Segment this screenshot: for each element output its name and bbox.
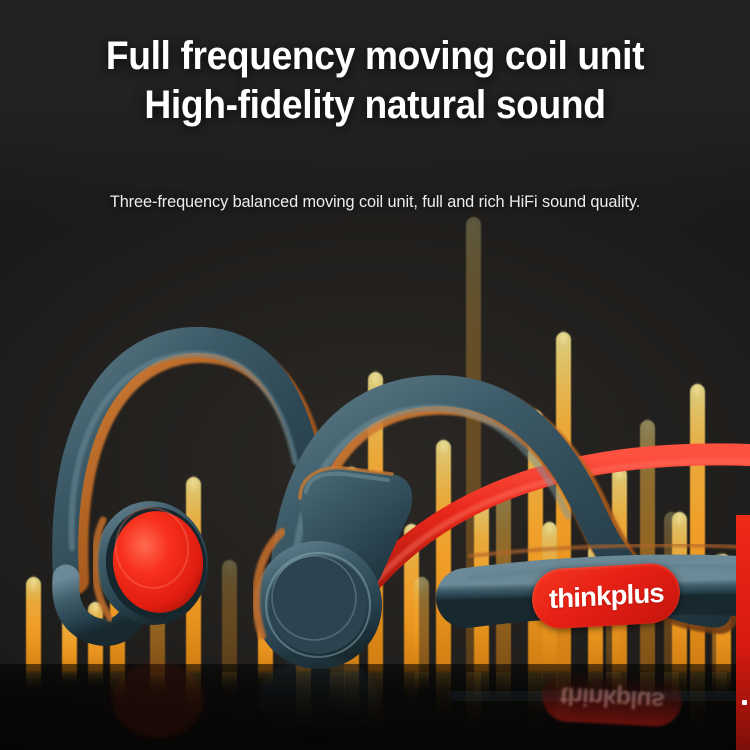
thinkplus-logo-badge: thinkplus (531, 562, 680, 630)
headset-front (254, 391, 742, 669)
edge-white-dot (742, 700, 747, 705)
headline-line-2: High-fidelity natural sound (26, 81, 724, 130)
headline-block: Full frequency moving coil unit High-fid… (0, 32, 750, 130)
edge-red-accent (736, 515, 750, 750)
thinkplus-logo-reflection: thinkplus (541, 668, 684, 727)
headline-line-1: Full frequency moving coil unit (26, 32, 724, 81)
subtitle-text: Three-frequency balanced moving coil uni… (15, 192, 735, 212)
thinkplus-logo-text: thinkplus (548, 577, 664, 614)
thinkplus-logo-reflection-text: thinkplus (559, 681, 664, 715)
product-marketing-banner: thinkplus thinkplus Full frequency movin… (0, 0, 750, 750)
